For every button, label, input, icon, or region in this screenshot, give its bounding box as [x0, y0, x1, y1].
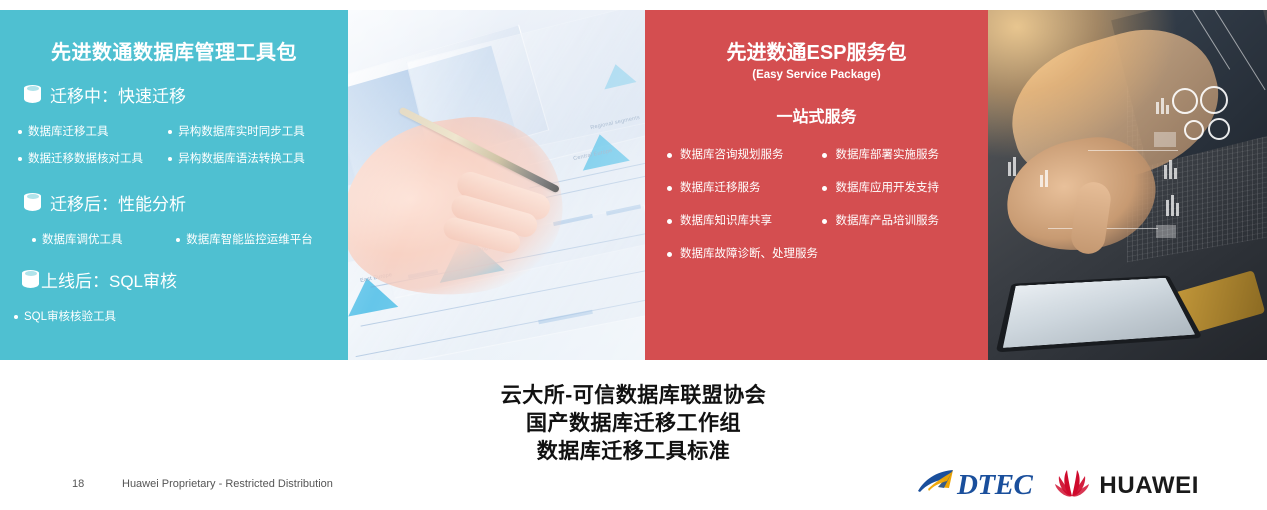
bottom-title-line-3: 数据库迁移工具标准	[0, 438, 1267, 466]
section-heading-label: 上线后：SQL审核	[41, 267, 177, 292]
list-item-label: 异构数据库语法转换工具	[178, 146, 305, 173]
list-item: 数据库迁移工具	[14, 119, 168, 146]
bullet-row: 数据库咨询规划服务 数据库部署实施服务	[657, 139, 976, 172]
page-number: 18	[72, 478, 84, 490]
bullet-dot-icon	[168, 130, 172, 134]
bullet-dot-icon	[14, 315, 18, 319]
hud-ring-icon	[1172, 88, 1198, 114]
red-panel-subtitle: (Easy Service Package)	[657, 69, 976, 81]
bottom-title-line-2: 国产数据库迁移工作组	[0, 410, 1267, 438]
list-item-label: 数据库智能监控运维平台	[186, 227, 313, 254]
list-item: 数据库应用开发支持	[822, 172, 976, 205]
panel-esp-service: 先进数通ESP服务包 (Easy Service Package) 一站式服务 …	[645, 10, 988, 360]
dtec-logo: DTEC	[916, 468, 1032, 503]
section-heading-migrating: 迁移中：快速迁移	[24, 82, 334, 107]
list-item-label: 异构数据库实时同步工具	[178, 119, 305, 146]
footer-note: Huawei Proprietary - Restricted Distribu…	[122, 478, 333, 490]
list-item: 异构数据库实时同步工具	[168, 119, 334, 146]
section-heading-label: 迁移中：快速迁移	[50, 82, 186, 107]
list-item: SQL审核核验工具	[14, 304, 172, 331]
bottom-title-line-1: 云大所-可信数据库联盟协会	[0, 382, 1267, 410]
list-item: 数据库智能监控运维平台	[168, 227, 334, 254]
photo-glow	[348, 10, 645, 360]
hud-ring-icon	[1208, 118, 1230, 140]
bullet-dot-icon	[667, 186, 672, 191]
footer: 18 Huawei Proprietary - Restricted Distr…	[0, 464, 1267, 510]
bullet-group-esp: 数据库咨询规划服务 数据库部署实施服务 数据库迁移服务 数据库应用开发支持	[657, 139, 976, 271]
list-item-label: 数据库应用开发支持	[835, 172, 939, 205]
bullet-dot-icon	[822, 186, 827, 191]
bullet-row: 数据库迁移工具 异构数据库实时同步工具	[14, 119, 334, 146]
hud-ring-icon	[1200, 86, 1228, 114]
list-item-label: 数据库产品培训服务	[835, 205, 939, 238]
bullet-row: 数据库迁移服务 数据库应用开发支持	[657, 172, 976, 205]
section-heading-post-golive: 上线后：SQL审核	[22, 267, 334, 292]
bullet-dot-icon	[822, 153, 827, 158]
center-photo: Regional segments Central Europe West Eu…	[348, 10, 645, 360]
bullet-group-post-golive: SQL审核核验工具	[14, 304, 334, 331]
list-item: 数据库调优工具	[14, 227, 168, 254]
bullet-dot-icon	[667, 153, 672, 158]
list-item-label: 数据库调优工具	[42, 227, 123, 254]
warm-light-flare	[988, 10, 1178, 160]
huawei-wordmark: HUAWEI	[1099, 472, 1199, 500]
bullet-row: SQL审核核验工具	[14, 304, 334, 331]
red-panel-title: 先进数通ESP服务包	[657, 36, 976, 65]
logo-group: DTEC HUAWEI	[916, 468, 1199, 503]
slide-canvas: 先进数通数据库管理工具包 迁移中：快速迁移 数据库迁移工具 异构数据库实时同步工…	[0, 0, 1267, 510]
bullet-row: 数据库调优工具 数据库智能监控运维平台	[14, 227, 334, 254]
panel-database-toolkit: 先进数通数据库管理工具包 迁移中：快速迁移 数据库迁移工具 异构数据库实时同步工…	[0, 10, 348, 360]
bullet-dot-icon	[18, 130, 22, 134]
bullet-dot-icon	[176, 238, 180, 242]
bullet-dot-icon	[667, 252, 672, 257]
bullet-dot-icon	[18, 157, 22, 161]
list-item: 数据库产品培训服务	[822, 205, 976, 238]
bullet-dot-icon	[168, 157, 172, 161]
teal-panel-title: 先进数通数据库管理工具包	[14, 36, 334, 65]
list-item: 数据库知识库共享	[657, 205, 822, 238]
bullet-dot-icon	[667, 219, 672, 224]
list-item-label: 数据库知识库共享	[680, 205, 772, 238]
bullet-group-post-migration: 数据库调优工具 数据库智能监控运维平台	[14, 227, 334, 254]
red-panel-tagline: 一站式服务	[657, 103, 976, 127]
database-icon	[24, 193, 41, 213]
bullet-dot-icon	[822, 219, 827, 224]
hud-ring-icon	[1184, 120, 1204, 140]
list-item-label: 数据库迁移服务	[680, 172, 761, 205]
section-heading-post-migration: 迁移后：性能分析	[24, 190, 334, 215]
tablet-shape	[996, 275, 1203, 352]
list-item: 数据库咨询规划服务	[657, 139, 822, 172]
list-item-label: 数据库迁移工具	[28, 119, 109, 146]
list-item: 数据库部署实施服务	[822, 139, 976, 172]
database-icon	[24, 85, 41, 105]
dtec-wordmark: DTEC	[957, 469, 1032, 502]
right-photo	[988, 10, 1267, 360]
bullet-row: 数据库知识库共享 数据库产品培训服务	[657, 205, 976, 238]
list-item-label: 数据库部署实施服务	[835, 139, 939, 172]
list-item-label: 数据库咨询规划服务	[680, 139, 784, 172]
bullet-row: 数据库故障诊断、处理服务	[657, 238, 976, 271]
section-heading-label: 迁移后：性能分析	[50, 190, 186, 215]
list-item-label: 数据迁移数据核对工具	[28, 146, 143, 173]
bullet-group-migrating: 数据库迁移工具 异构数据库实时同步工具 数据迁移数据核对工具 异构数据库语法转换…	[14, 119, 334, 173]
huawei-logo: HUAWEI	[1054, 468, 1199, 503]
dtec-mark-icon	[916, 468, 956, 503]
bullet-dot-icon	[32, 238, 36, 242]
list-item: 异构数据库语法转换工具	[168, 146, 334, 173]
list-item-label: 数据库故障诊断、处理服务	[680, 238, 818, 271]
bullet-row: 数据迁移数据核对工具 异构数据库语法转换工具	[14, 146, 334, 173]
list-item: 数据库迁移服务	[657, 172, 822, 205]
content-band: 先进数通数据库管理工具包 迁移中：快速迁移 数据库迁移工具 异构数据库实时同步工…	[0, 10, 1267, 360]
database-icon	[22, 270, 39, 290]
list-item: 数据库故障诊断、处理服务	[657, 238, 829, 271]
huawei-flower-icon	[1054, 468, 1090, 503]
bottom-title: 云大所-可信数据库联盟协会 国产数据库迁移工作组 数据库迁移工具标准	[0, 382, 1267, 466]
list-item: 数据迁移数据核对工具	[14, 146, 168, 173]
list-item-label: SQL审核核验工具	[24, 304, 116, 331]
